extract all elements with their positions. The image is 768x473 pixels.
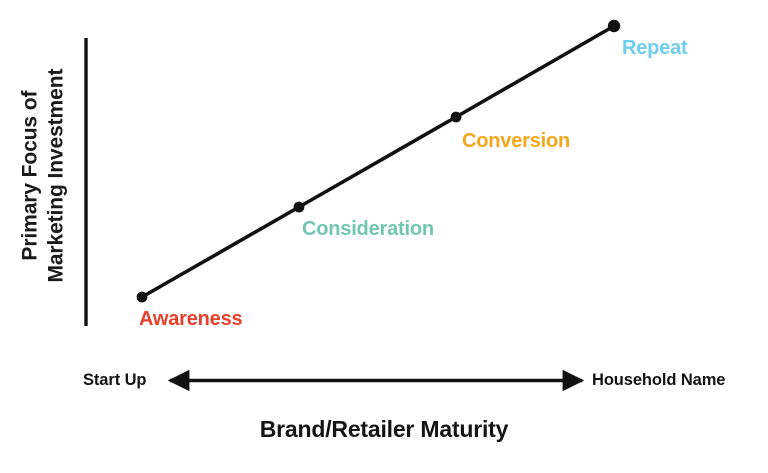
point-label-repeat: Repeat — [622, 38, 688, 58]
axis-end-label: Household Name — [592, 372, 725, 389]
axis-start-label: Start Up — [83, 372, 146, 389]
series-line — [142, 26, 614, 297]
data-point-repeat[interactable] — [608, 20, 620, 32]
x-axis-title: Brand/Retailer Maturity — [0, 418, 768, 441]
point-label-awareness: Awareness — [139, 309, 242, 329]
point-label-conversion: Conversion — [462, 131, 570, 151]
data-point-awareness[interactable] — [137, 292, 148, 303]
point-label-consideration: Consideration — [302, 219, 434, 239]
data-point-conversion[interactable] — [451, 112, 462, 123]
data-point-consideration[interactable] — [294, 202, 305, 213]
chart-container: Primary Focus of Marketing Investment Aw… — [0, 0, 768, 473]
